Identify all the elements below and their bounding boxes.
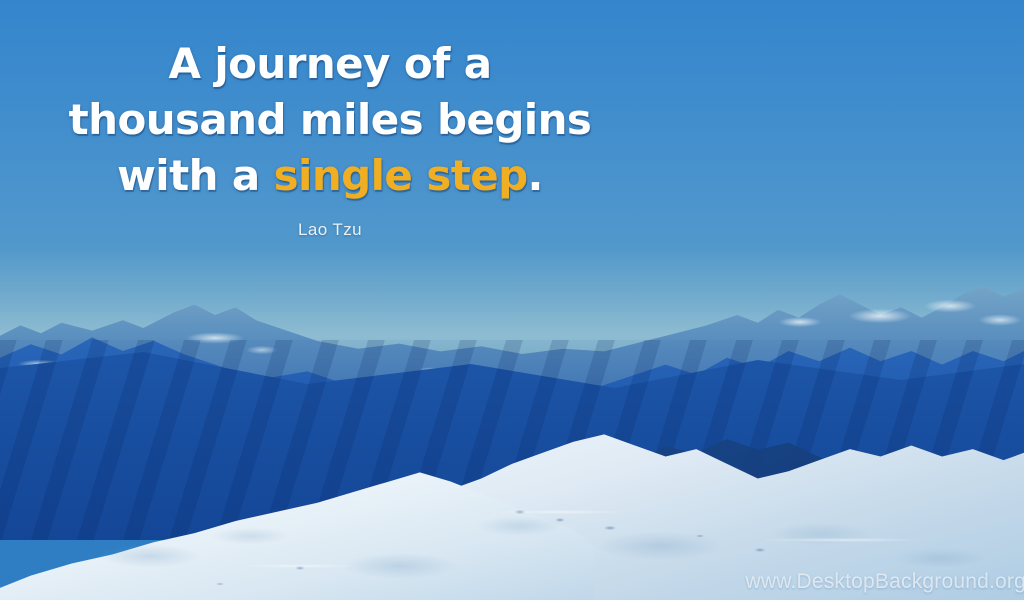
quote-line-2: thousand miles begins [0, 92, 660, 148]
quote-line-3-prefix: with a [117, 151, 274, 200]
quote-block: A journey of a thousand miles begins wit… [0, 36, 660, 240]
quote-highlight-single-step: single step [274, 151, 528, 200]
quote-line-1: A journey of a [0, 36, 660, 92]
quote-line-3: with a single step. [0, 148, 660, 204]
quote-line-3-suffix: . [528, 151, 543, 200]
site-watermark: www.DesktopBackground.org [746, 570, 1024, 594]
quote-author: Lao Tzu [0, 220, 660, 240]
wallpaper-canvas: A journey of a thousand miles begins wit… [0, 0, 1024, 600]
